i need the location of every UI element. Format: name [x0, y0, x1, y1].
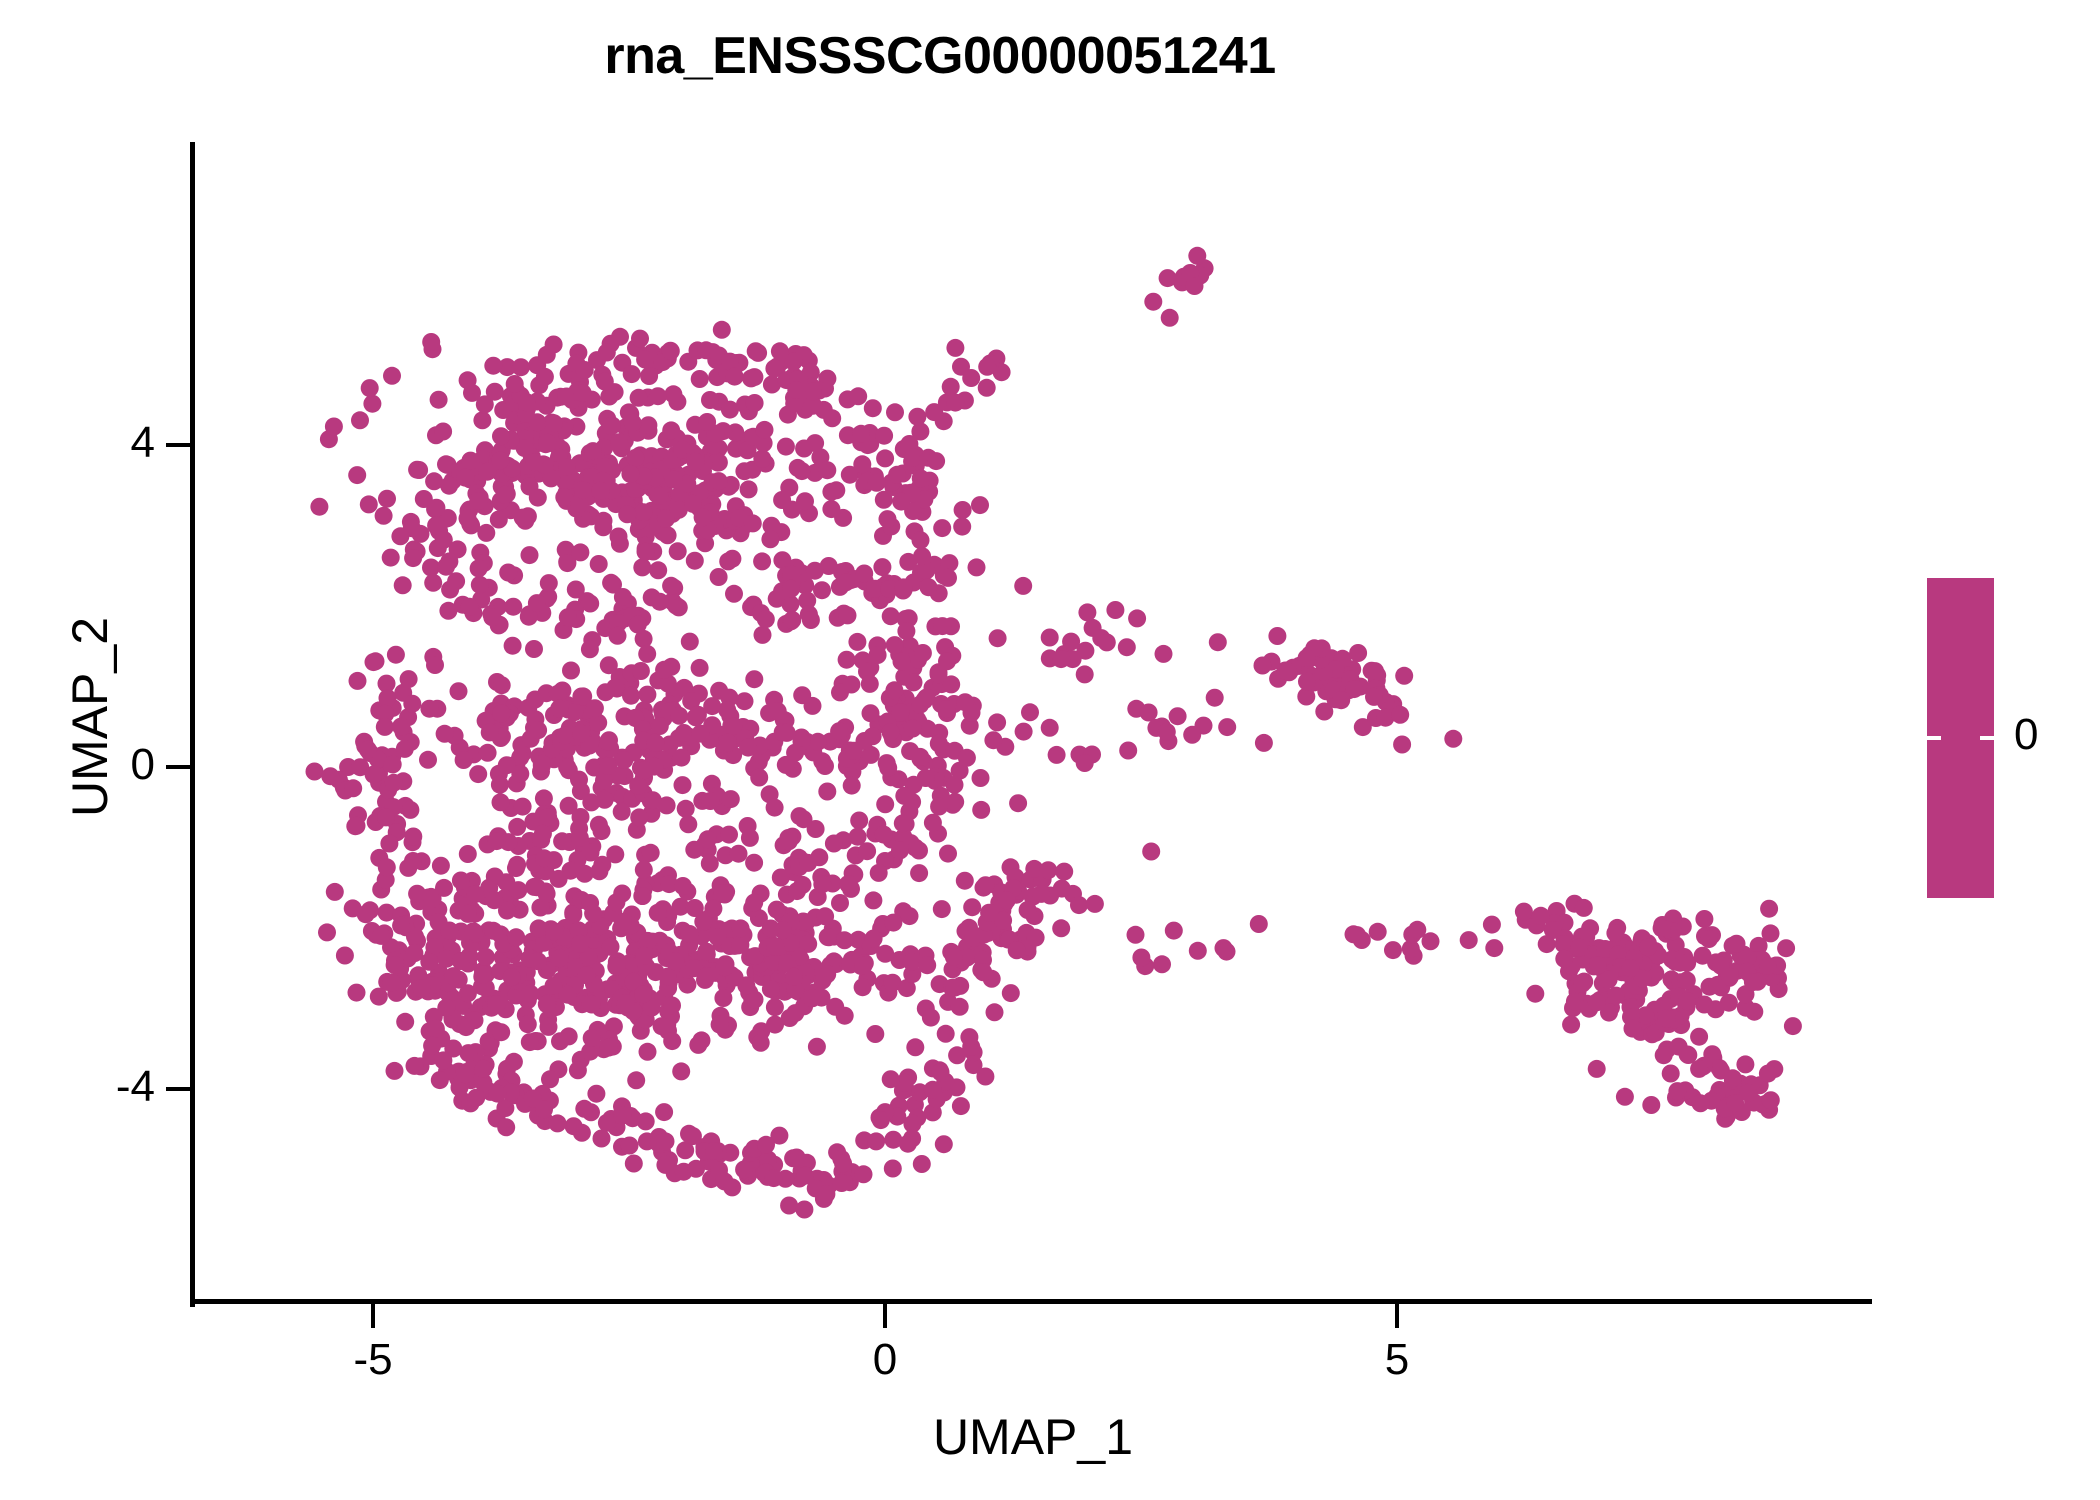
x-tick-mark-0 — [883, 1303, 887, 1328]
x-tick-label-minus5: -5 — [353, 1338, 392, 1382]
colorbar-tick-right — [1980, 736, 1994, 740]
umap-feature-plot: rna_ENSSSCG00000051241 4 0 -4 -5 0 5 UMA… — [0, 0, 2100, 1500]
y-tick-mark-minus4 — [166, 1087, 191, 1091]
y-axis-label: UMAP_2 — [61, 317, 119, 1117]
x-tick-label-0: 0 — [873, 1338, 897, 1382]
scatter-points-layer — [0, 0, 2100, 1500]
x-axis-label: UMAP_1 — [194, 1408, 1872, 1466]
y-tick-label-minus4: -4 — [116, 1065, 155, 1109]
plot-panel — [194, 142, 1872, 1303]
y-tick-mark-4 — [166, 443, 191, 447]
colorbar-tick-left — [1927, 736, 1941, 740]
page-title: rna_ENSSSCG00000051241 — [0, 26, 1880, 86]
x-tick-mark-minus5 — [371, 1303, 375, 1328]
x-tick-mark-5 — [1395, 1303, 1399, 1328]
y-tick-mark-0 — [166, 765, 191, 769]
x-tick-label-5: 5 — [1385, 1338, 1409, 1382]
y-tick-label-4: 4 — [131, 421, 155, 465]
colorbar[interactable] — [1927, 578, 1994, 898]
y-tick-label-0: 0 — [131, 743, 155, 787]
x-axis-line — [190, 1299, 1872, 1304]
y-axis-line — [190, 142, 195, 1307]
colorbar-tick-label-0: 0 — [2014, 713, 2038, 757]
